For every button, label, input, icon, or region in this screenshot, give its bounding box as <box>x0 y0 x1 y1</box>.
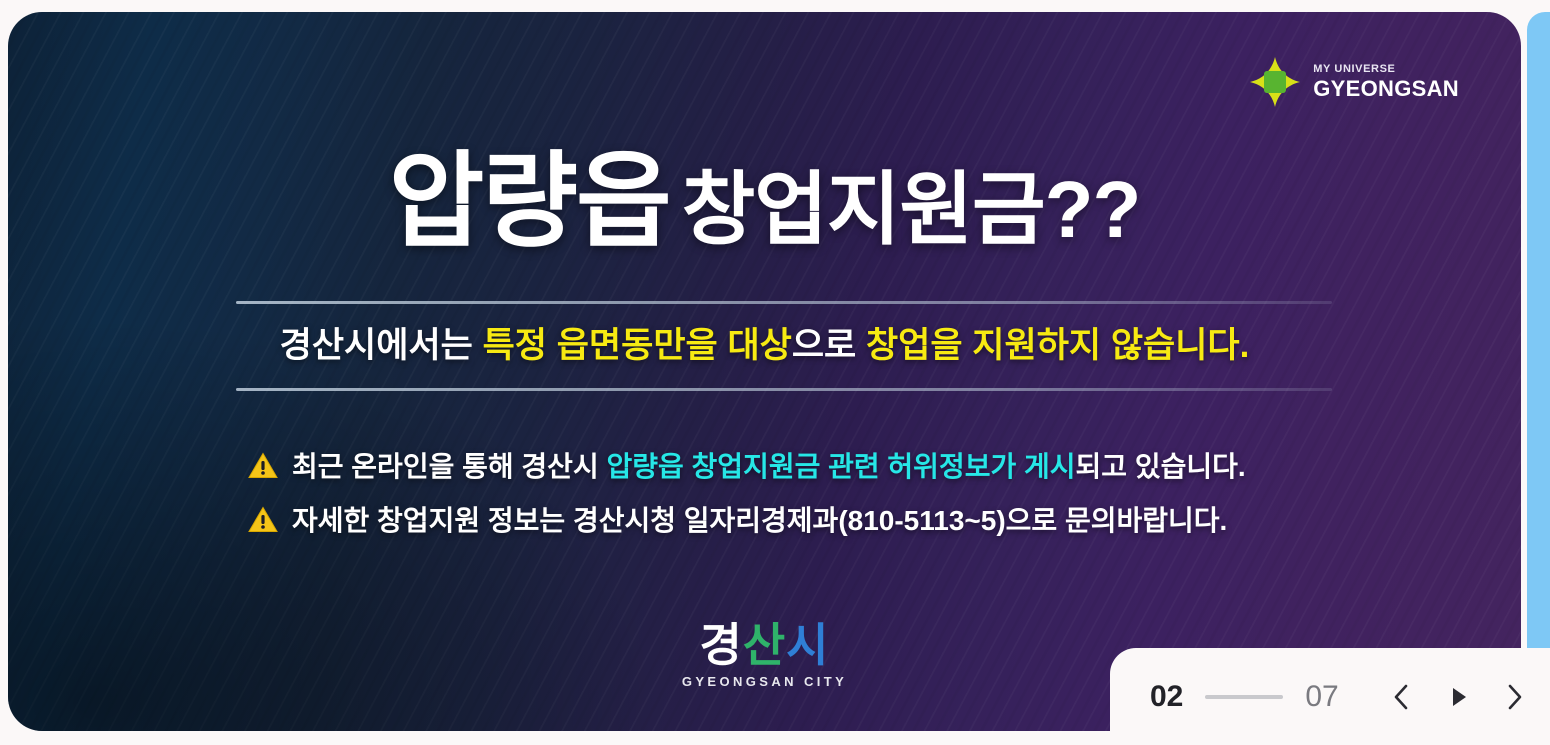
brand-tagline: MY UNIVERSE <box>1313 64 1459 75</box>
notice-item: 자세한 창업지원 정보는 경산시청 일자리경제과(810-5113~5)으로 문… <box>248 499 1246 539</box>
notice-highlight: 압량읍 창업지원금 관련 허위정보가 게시 <box>606 451 1075 482</box>
brand-name: GYEONGSAN <box>1313 78 1459 100</box>
pagination-current: 02 <box>1150 680 1183 714</box>
notice-part-1: 최근 온라인을 통해 경산시 <box>292 451 606 482</box>
diamond-starburst-icon <box>1249 56 1301 108</box>
city-logo-char-1: 경 <box>700 619 743 671</box>
carousel-controls <box>1387 680 1529 714</box>
pagination-total: 07 <box>1305 680 1338 714</box>
slide-headline: 압량읍창업지원금?? <box>8 116 1521 267</box>
subtitle-part-1: 경산시에서는 <box>280 326 483 365</box>
city-logo-subtitle: GYEONGSAN CITY <box>682 674 847 689</box>
notice-text: 최근 온라인을 통해 경산시 압량읍 창업지원금 관련 허위정보가 게시되고 있… <box>292 445 1246 485</box>
city-logo-word: 경산시 <box>700 622 830 668</box>
next-slide-preview[interactable] <box>1527 12 1550 731</box>
notice-text: 자세한 창업지원 정보는 경산시청 일자리경제과(810-5113~5)으로 문… <box>292 499 1227 539</box>
city-logo-char-3: 시 <box>786 619 829 671</box>
warning-triangle-icon <box>248 452 278 479</box>
notice-part-2: 되고 있습니다. <box>1076 451 1246 482</box>
notice-list: 최근 온라인을 통해 경산시 압량읍 창업지원금 관련 허위정보가 게시되고 있… <box>248 445 1246 539</box>
pagination-progress-bar[interactable] <box>1205 695 1283 699</box>
chevron-left-icon[interactable] <box>1387 680 1417 714</box>
headline-rest: 창업지원금?? <box>682 165 1141 254</box>
carousel-pagination: 02 07 <box>1110 648 1550 745</box>
play-triangle-icon[interactable] <box>1443 680 1473 714</box>
headline-emphasis: 압량읍 <box>389 144 670 260</box>
notice-item: 최근 온라인을 통해 경산시 압량읍 창업지원금 관련 허위정보가 게시되고 있… <box>248 445 1246 485</box>
city-logo-char-2: 산 <box>743 619 786 671</box>
divider-top <box>236 301 1332 304</box>
warning-triangle-icon <box>248 506 278 533</box>
banner-slide[interactable]: MY UNIVERSE GYEONGSAN 압량읍창업지원금?? 경산시에서는 … <box>8 12 1521 731</box>
divider-bottom <box>236 388 1332 391</box>
chevron-right-icon[interactable] <box>1499 680 1529 714</box>
subtitle-part-2: 으로 <box>792 326 866 365</box>
subtitle-highlight-2: 창업을 지원하지 않습니다. <box>866 326 1249 365</box>
subtitle-highlight-1: 특정 읍면동만을 대상 <box>483 326 792 365</box>
slide-subtitle: 경산시에서는 특정 읍면동만을 대상으로 창업을 지원하지 않습니다. <box>8 317 1521 368</box>
carousel-stage: MY UNIVERSE GYEONGSAN 압량읍창업지원금?? 경산시에서는 … <box>0 0 1550 745</box>
notice-part-1: 자세한 창업지원 정보는 경산시청 일자리경제과(810-5113~5)으로 문… <box>292 505 1227 536</box>
brand-logo: MY UNIVERSE GYEONGSAN <box>1249 56 1459 108</box>
